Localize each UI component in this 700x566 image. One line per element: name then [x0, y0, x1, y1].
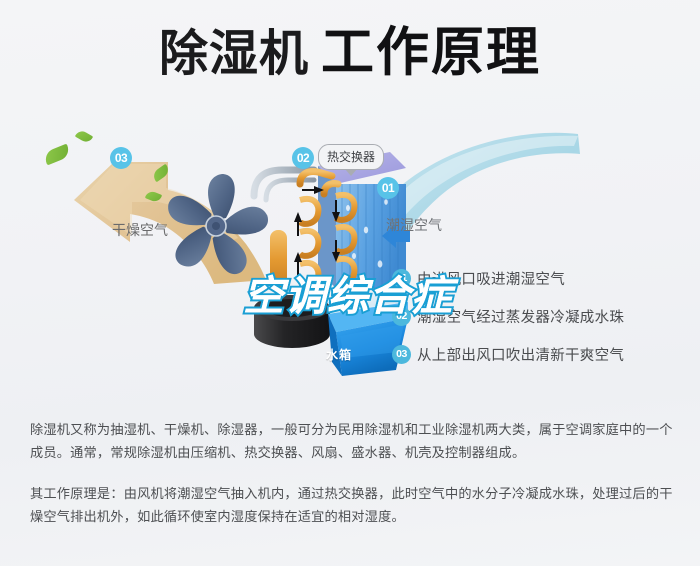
- diagram-marker-03: 03: [110, 147, 132, 169]
- description-paragraph-2: 其工作原理是：由风机将潮湿空气抽入机内，通过热交换器，此时空气中的水分子冷凝成水…: [30, 482, 675, 528]
- step-number: 03: [392, 345, 411, 364]
- step-text: 从上部出风口吹出清新干爽空气: [417, 344, 624, 365]
- title-main-text: 除湿机: [159, 30, 309, 79]
- watermark-fill-text: 空调综合症: [243, 262, 453, 322]
- infographic-page: 除湿机工作原理: [0, 0, 700, 566]
- description-paragraph-1: 除湿机又称为抽湿机、干燥机、除湿器，一般可分为民用除湿机和工业除湿机两大类，属于…: [30, 418, 675, 464]
- page-title: 除湿机工作原理: [0, 26, 700, 79]
- watermark: 空调综合症 空调综合症: [243, 262, 453, 322]
- heat-exchanger-callout: 热交换器: [318, 144, 384, 170]
- title-sub-text: 工作原理: [321, 26, 541, 79]
- diagram-marker-02: 02: [292, 147, 314, 169]
- humid-air-label: 潮湿空气: [386, 215, 442, 235]
- dry-air-label: 干燥空气: [112, 220, 168, 240]
- description-block: 除湿机又称为抽湿机、干燥机、除湿器，一般可分为民用除湿机和工业除湿机两大类，属于…: [30, 418, 675, 528]
- diagram-marker-01: 01: [377, 177, 399, 199]
- water-tank-label: 水箱: [326, 346, 352, 363]
- list-item: 03从上部出风口吹出清新干爽空气: [392, 344, 682, 382]
